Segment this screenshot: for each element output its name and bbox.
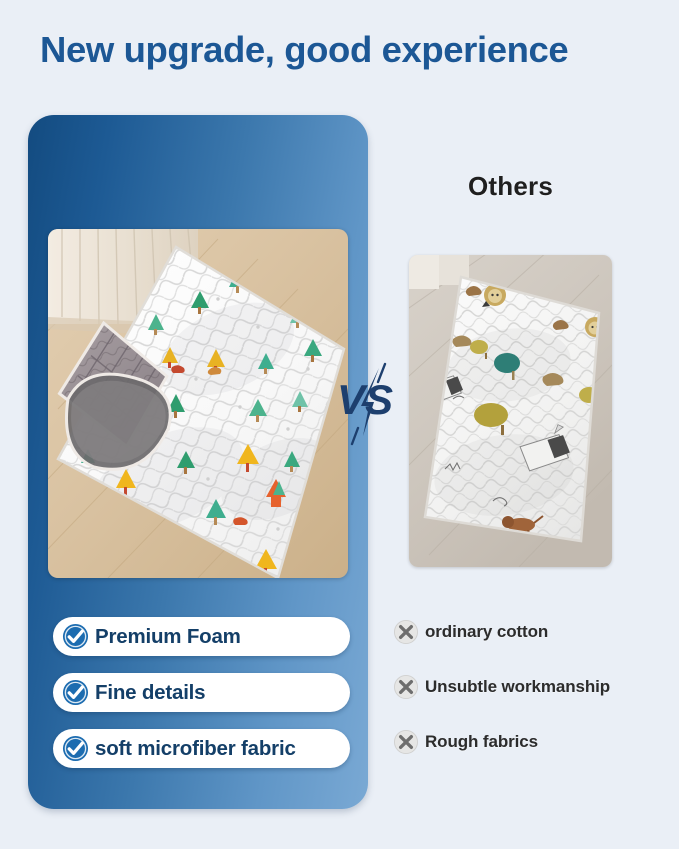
x-circle-icon — [394, 730, 418, 754]
ours-feature-item[interactable]: soft microfiber fabric — [53, 729, 350, 768]
ours-feature-item[interactable]: Premium Foam — [53, 617, 350, 656]
others-drawback-label: Unsubtle workmanship — [425, 677, 610, 697]
vs-badge: VS — [336, 362, 408, 448]
x-circle-icon — [394, 675, 418, 699]
check-circle-icon — [62, 679, 89, 706]
others-product-photo — [409, 255, 612, 567]
others-drawback-item[interactable]: Unsubtle workmanship — [394, 673, 639, 701]
ours-feature-label: soft microfiber fabric — [95, 737, 296, 761]
page-title: New upgrade, good experience — [40, 31, 650, 69]
ours-feature-label: Premium Foam — [95, 625, 241, 649]
others-drawback-label: ordinary cotton — [425, 622, 548, 642]
x-circle-icon — [394, 620, 418, 644]
ours-product-photo — [48, 229, 348, 578]
others-drawback-item[interactable]: Rough fabrics — [394, 728, 639, 756]
check-circle-icon — [62, 735, 89, 762]
others-drawback-label: Rough fabrics — [425, 732, 538, 752]
ours-feature-item[interactable]: Fine details — [53, 673, 350, 712]
ours-feature-label: Fine details — [95, 681, 205, 705]
others-heading: Others — [376, 171, 645, 202]
check-circle-icon — [62, 623, 89, 650]
others-drawback-item[interactable]: ordinary cotton — [394, 618, 639, 646]
